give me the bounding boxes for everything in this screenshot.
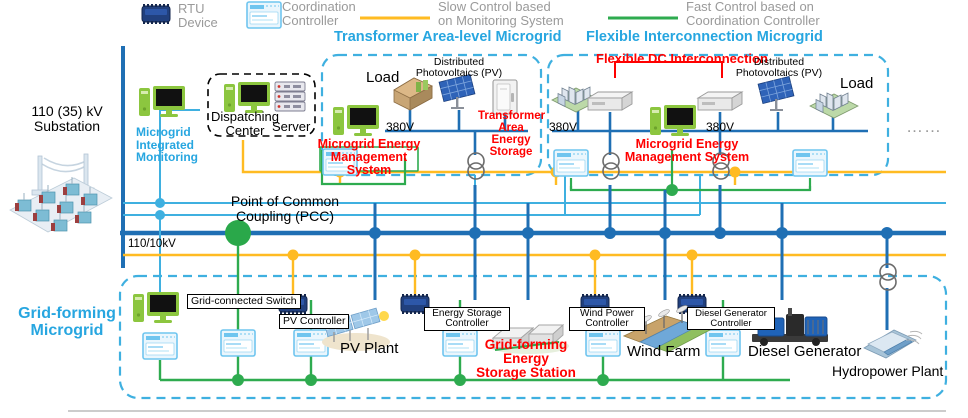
orange-node-rtu-2 — [410, 250, 421, 261]
region-title-transformer-area: Transformer Area-level Microgrid — [334, 30, 562, 45]
green-node-pv — [305, 374, 317, 386]
voltage-ratio-label: 110/10kV — [128, 238, 176, 250]
voltage-380v-flex-right: 380V — [706, 121, 734, 134]
mems-label-transformer-area: Microgrid Energy Management System — [313, 138, 425, 177]
voltage-380v-transformer-area: 380V — [386, 121, 414, 134]
mems-label-flex: Microgrid Energy Management System — [613, 138, 761, 164]
load-icon-transformer-area — [394, 78, 432, 110]
load-label-transformer-area: Load — [366, 70, 399, 86]
pc-icon-mems-transformer — [333, 105, 379, 136]
load-icon-flex — [810, 93, 858, 118]
region-title-grid-forming: Grid-forming Microgrid — [12, 306, 122, 340]
legend-label-fast-control: Fast Control based on Coordination Contr… — [686, 0, 886, 27]
controller-flex-left — [554, 150, 588, 176]
orange-node-rtu-1 — [288, 250, 299, 261]
transformer-area-energy-storage-label: Transformer Area Energy Storage — [478, 110, 544, 158]
server-label: Server — [272, 120, 310, 134]
wind-power-controller-label: Wind Power Controller — [569, 307, 645, 331]
controller-grid-connected-switch — [221, 330, 255, 356]
legend-label-rtu: RTU Device — [178, 2, 248, 29]
controller-wind-power — [586, 330, 620, 356]
converter-icon-flex-left — [588, 92, 632, 110]
wind-farm-label: Wind Farm — [627, 344, 700, 360]
pv-label-flex: Distributed Photovoltaics (PV) — [725, 57, 833, 79]
legend-label-coordination-controller: Coordination Controller — [282, 0, 392, 27]
pv-plant-label: PV Plant — [340, 341, 398, 357]
green-node-gcs — [232, 374, 244, 386]
pv-icon-transformer-area — [439, 74, 475, 109]
orange-node-rtu-4 — [687, 250, 698, 261]
region-title-flexible-interconnection: Flexible Interconnection Microgrid — [586, 30, 823, 45]
grid-forming-storage-station-label: Grid-forming Energy Storage Station — [468, 338, 584, 381]
pv-label-transformer-area: Distributed Photovoltaics (PV) — [405, 57, 513, 79]
diagram-canvas: RTU Device Coordination Controller Slow … — [0, 0, 968, 418]
ellipsis-label: …… — [906, 118, 942, 136]
controller-diesel-generator — [706, 330, 740, 356]
legend-label-slow-control: Slow Control based on Monitoring System — [438, 0, 588, 27]
green-node-ess — [454, 374, 466, 386]
orange-node-c — [730, 167, 741, 178]
green-node-wind — [597, 374, 609, 386]
pcc-label: Point of Common Coupling (PCC) — [190, 194, 380, 223]
energy-storage-icon-transformer-area — [493, 80, 517, 114]
diesel-generator-label: Diesel Generator — [748, 344, 861, 360]
green-control-flex — [571, 186, 810, 190]
hydropower-icon — [864, 330, 922, 358]
diesel-generator-controller-label: Diesel Generator Controller — [687, 307, 775, 330]
legend-controller-icon — [247, 2, 281, 28]
orange-node-rtu-3 — [590, 250, 601, 261]
converter-icon-flex-right — [698, 92, 742, 110]
load-label-flex: Load — [840, 76, 873, 92]
substation-icon — [10, 154, 112, 232]
pv-controller-label: PV Controller — [279, 314, 349, 329]
server-icon — [275, 82, 305, 111]
energy-storage-controller-label: Energy Storage Controller — [424, 307, 510, 331]
controller-gridforming-mems — [143, 333, 177, 359]
pv-icon-flex — [758, 76, 794, 111]
green-node-flex — [666, 184, 678, 196]
hydropower-plant-label: Hydropower Plant — [832, 364, 943, 379]
voltage-380v-flex-left: 380V — [549, 121, 577, 134]
pc-icon-gridforming — [133, 292, 179, 323]
grid-connected-switch-label: Grid-connected Switch — [187, 294, 301, 309]
microgrid-integrated-monitoring-label: Microgrid Integrated Monitoring — [136, 126, 208, 164]
pcc-node — [225, 220, 251, 246]
legend-rtu-icon — [142, 4, 170, 24]
controller-flex-right — [793, 150, 827, 176]
pc-icon-monitoring — [139, 86, 185, 117]
substation-title: 110 (35) kV Substation — [14, 104, 120, 133]
